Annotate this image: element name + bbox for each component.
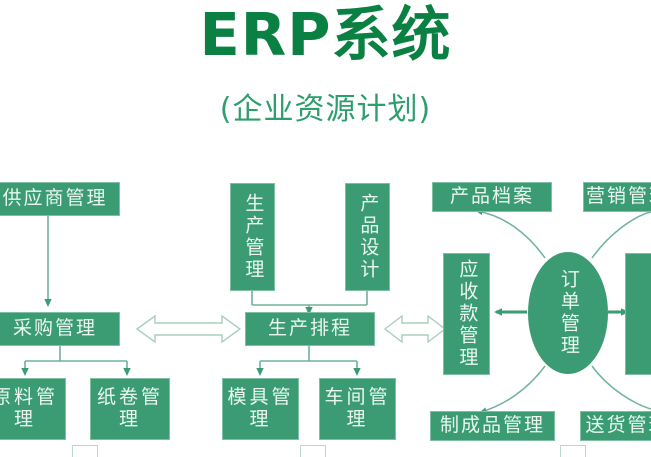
node-supplier-management[interactable]: 供应商管理 [0,182,120,216]
node-finished-goods-management[interactable]: 制成品管理 [430,411,555,441]
node-right-panel-clipped[interactable] [625,253,651,375]
node-material-management[interactable]: 原料管理 [0,378,66,440]
node-marketing-management[interactable]: 营销管理 [583,182,651,212]
bottom-stub-right [560,445,586,457]
node-product-archive[interactable]: 产品档案 [432,182,552,212]
node-workshop-management[interactable]: 车间管理 [319,378,396,440]
page-subtitle: (企业资源计划) [0,84,651,128]
node-mold-management[interactable]: 模具管理 [222,378,299,440]
node-paper-roll-management[interactable]: 纸卷管理 [90,378,170,440]
bottom-stub-center [300,445,326,457]
node-product-design[interactable]: 产品设计 [345,183,390,291]
node-purchase-management[interactable]: 采购管理 [0,312,120,346]
node-accounts-receivable-management[interactable]: 应收款管理 [443,253,490,375]
node-production-scheduling[interactable]: 生产排程 [245,312,375,346]
page-title: ERP系统 [0,2,651,68]
node-production-management[interactable]: 生产管理 [230,183,275,291]
node-order-management[interactable]: 订单管理 [528,252,608,374]
bottom-stub-left [72,445,98,457]
node-delivery-management[interactable]: 送货管理 [580,411,651,441]
erp-diagram-canvas: ERP系统 (企业资源计划) [0,0,651,457]
